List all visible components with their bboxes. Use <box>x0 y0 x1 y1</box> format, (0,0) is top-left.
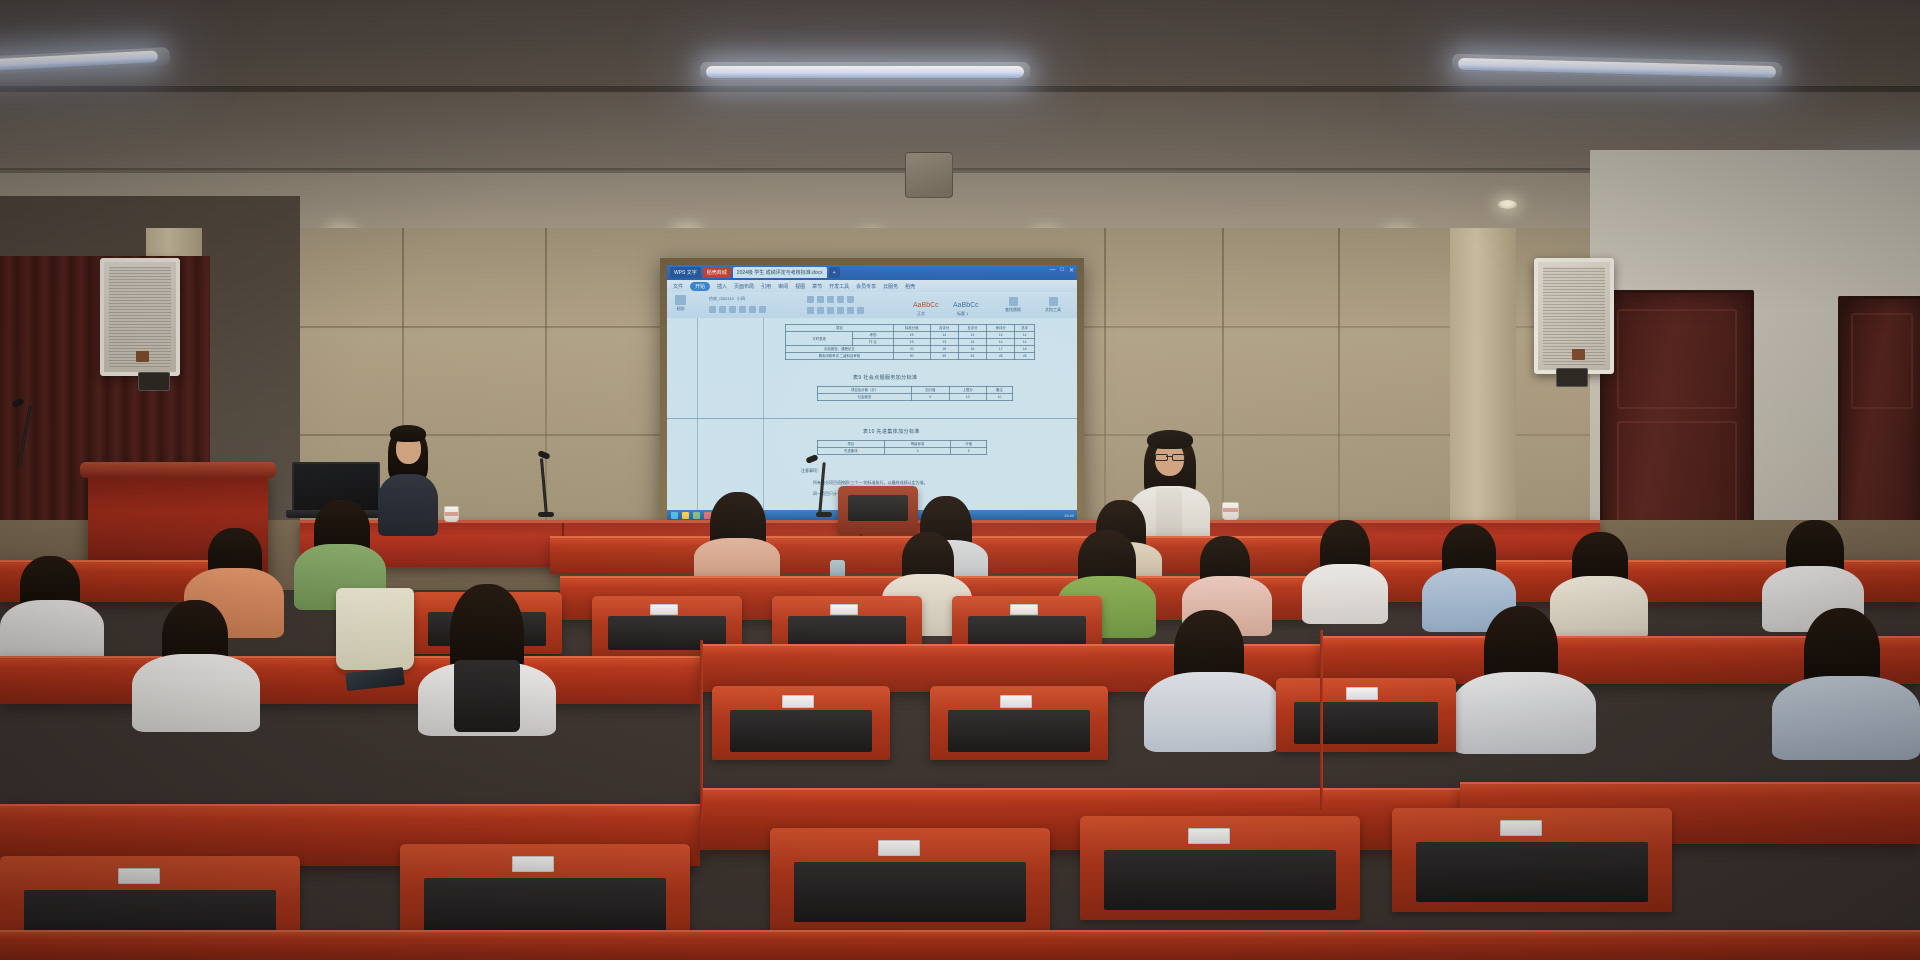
menu-item-member[interactable]: 会员专享 <box>856 283 876 290</box>
table-row: 实验报告、课程论文 20 18 18 17 18 <box>786 346 1035 353</box>
grading-table-3: 项目 等级标准 分值 先进集体 3 5 <box>817 440 987 455</box>
seat-number-label <box>830 604 858 615</box>
table-header-cell: 总评 <box>1015 325 1035 332</box>
font-name-box[interactable]: 仿宋_GB2312 <box>709 296 734 302</box>
seat-number-label <box>1188 828 1230 844</box>
wall-plate-right <box>1556 368 1588 387</box>
table-row: 社会服务 5 10 10 <box>818 394 1013 401</box>
wps-menubar: 文件 开始 插入 页面布局 引用 审阅 视图 章节 开发工具 会员专享 云服务 … <box>667 280 1077 292</box>
bench-row-5-foreground <box>0 930 1920 960</box>
menu-item-docer[interactable]: 稻壳 <box>905 283 915 290</box>
table-cell: 45 <box>987 353 1015 360</box>
wall-speaker-left <box>100 258 180 376</box>
student-r3-c1 <box>128 600 264 730</box>
style-gallery-item-2[interactable]: AaBbCc <box>953 302 979 309</box>
seat-r4-5[interactable] <box>1392 808 1672 912</box>
notes-heading: 注意事项： <box>801 468 821 474</box>
font-color-icon[interactable] <box>759 306 766 313</box>
table-cell: 期末闭卷考试 二级科目考核 <box>786 353 894 360</box>
table-cell: 考勤 <box>853 332 893 339</box>
pinafore <box>454 660 520 732</box>
table-cell: 5 <box>912 394 949 401</box>
student-r3-c5 <box>1448 606 1600 752</box>
wps-store-tab[interactable]: 稻壳商城 <box>703 267 731 278</box>
align-right-icon[interactable] <box>827 296 834 303</box>
table-header-cell: 备注 <box>986 387 1012 394</box>
table-row: 项目 等级标准 分值 <box>818 441 987 448</box>
table-cell: 10 <box>986 394 1012 401</box>
student-r3-c6 <box>1768 608 1920 758</box>
style-label-body: 正文 <box>917 311 925 317</box>
table-cell: 44 <box>958 353 986 360</box>
menu-item-home[interactable]: 开始 <box>690 282 710 291</box>
hair-top <box>1147 430 1193 449</box>
table-microphone-base-1 <box>538 512 554 517</box>
hair-top <box>390 425 426 442</box>
align-center-icon[interactable] <box>817 296 824 303</box>
wps-document-tab[interactable]: 2024级 学生 成绩评定与考核标准.docx <box>733 267 827 278</box>
table-cell: 14 <box>930 332 958 339</box>
seat-r3-1[interactable] <box>712 686 890 760</box>
table-cell: 18 <box>930 346 958 353</box>
table-header-cell: 上限分 <box>949 387 986 394</box>
taskbar-clock[interactable]: 15:42 <box>1064 513 1074 518</box>
clock-time: 15:42 <box>1064 513 1074 518</box>
table-header-cell: 加分值 <box>912 387 949 394</box>
table-cell: 平时表现 <box>786 332 853 346</box>
seat-number-label <box>512 856 554 872</box>
glasses-bridge <box>1166 456 1172 457</box>
minimize-icon[interactable]: — <box>1049 267 1055 274</box>
fluorescent-tube-2 <box>706 66 1024 78</box>
table-row: 期末闭卷考试 二级科目考核 50 45 44 45 45 <box>786 353 1035 360</box>
text-highlight-icon[interactable] <box>749 306 756 313</box>
wall-plate-left <box>138 372 170 391</box>
table-cell: 作 业 <box>853 339 893 346</box>
table-header-cell: 项目 <box>786 325 894 332</box>
wall-speaker-right <box>1534 258 1614 374</box>
number-list-icon[interactable] <box>817 307 824 314</box>
doc-tools-icon[interactable] <box>1049 297 1058 306</box>
paper-cup-left <box>444 506 459 522</box>
justify-icon[interactable] <box>837 296 844 303</box>
menu-item-cloud[interactable]: 云服务 <box>883 283 898 290</box>
table-cell: 15 <box>893 332 930 339</box>
downlight-8 <box>1498 200 1517 209</box>
bullet-list-icon[interactable] <box>807 307 814 314</box>
document-page[interactable]: 项目 标准分值 自评分 互评分 师评分 总评 平时表现 考勤 15 14 14 … <box>667 318 1077 510</box>
seat-number-label <box>118 868 160 884</box>
table-header-cell: 分值 <box>951 441 987 448</box>
menu-item-file[interactable]: 文件 <box>673 283 683 290</box>
seat-r3-3[interactable] <box>1276 678 1456 752</box>
close-icon[interactable]: ✕ <box>1069 267 1074 274</box>
window-buttons[interactable]: — □ ✕ <box>1049 267 1074 274</box>
menu-item-reference[interactable]: 引用 <box>761 283 771 290</box>
table-row: 项目 标准分值 自评分 互评分 师评分 总评 <box>786 325 1035 332</box>
projection-screen[interactable]: WPS 文字 稻壳商城 2024级 学生 成绩评定与考核标准.docx + — … <box>667 265 1077 521</box>
ceiling-vent <box>905 152 953 198</box>
ribbon-group-find: 查找替换 <box>1005 307 1021 313</box>
table-cell: 社会服务 <box>818 394 912 401</box>
table-header-cell: 标准分值 <box>893 325 930 332</box>
italic-icon[interactable] <box>719 306 726 313</box>
table-cell: 14 <box>1015 339 1035 346</box>
seat-number-label <box>1000 695 1032 708</box>
student-r2-c6 <box>1300 520 1392 624</box>
menu-item-pagelayout[interactable]: 页面布局 <box>734 283 754 290</box>
shading-icon[interactable] <box>857 307 864 314</box>
seat-r4-4[interactable] <box>1080 816 1360 920</box>
table-cell: 5 <box>951 448 987 455</box>
table-cell: 14 <box>958 332 986 339</box>
ribbon-group-paste: 粘贴 <box>677 306 685 312</box>
seat-r4-3[interactable] <box>770 828 1050 932</box>
seat-number-label <box>1010 604 1038 615</box>
table-cell: 先进集体 <box>818 448 885 455</box>
wps-titlebar: WPS 文字 稻壳商城 2024级 学生 成绩评定与考核标准.docx + — … <box>667 265 1077 280</box>
ribbon-group-doctools: 文档工具 <box>1045 307 1061 313</box>
table-cell: 14 <box>958 339 986 346</box>
font-size-box[interactable]: 小四 <box>737 296 745 302</box>
start-icon[interactable] <box>671 512 678 519</box>
seat-number-label <box>878 840 920 856</box>
table-header-cell: 互评分 <box>958 325 986 332</box>
menu-item-review[interactable]: 审阅 <box>778 283 788 290</box>
grading-table-1: 项目 标准分值 自评分 互评分 师评分 总评 平时表现 考勤 15 14 14 … <box>785 324 1035 360</box>
borders-icon[interactable] <box>847 307 854 314</box>
style-gallery-item-1[interactable]: AaBbCc <box>913 302 939 309</box>
student-r2-cL <box>0 556 110 666</box>
door-right[interactable] <box>1600 290 1754 556</box>
maximize-icon[interactable]: □ <box>1060 267 1064 274</box>
seat-number-label <box>650 604 678 615</box>
table-cell: 10 <box>949 394 986 401</box>
table-cell: 13 <box>930 339 958 346</box>
bold-icon[interactable] <box>709 306 716 313</box>
table-cell: 14 <box>1015 332 1035 339</box>
podium-top <box>80 462 276 478</box>
style-label-heading: 标题 1 <box>957 311 968 317</box>
student-r3-c2 <box>412 584 562 734</box>
indent-increase-icon[interactable] <box>837 307 844 314</box>
table-cell: 14 <box>987 339 1015 346</box>
indent-decrease-icon[interactable] <box>827 307 834 314</box>
find-replace-icon[interactable] <box>1009 297 1018 306</box>
wps-ribbon: 粘贴 仿宋_GB2312 小四 <box>667 292 1077 319</box>
seat-number-label <box>1346 687 1378 700</box>
wps-new-tab-button[interactable]: + <box>829 267 840 278</box>
table-caption-2: 表10 先进集体加分标准 <box>863 428 920 435</box>
wall-pillar-right <box>1450 228 1516 538</box>
table-cell: 18 <box>1015 346 1035 353</box>
paste-icon[interactable] <box>675 295 686 305</box>
table-cell: 50 <box>893 353 930 360</box>
lecture-hall-photo: WPS 文字 稻壳商城 2024级 学生 成绩评定与考核标准.docx + — … <box>0 0 1920 960</box>
table-cell: 17 <box>987 346 1015 353</box>
table-header-cell: 项目 <box>818 441 885 448</box>
wps-app-tab[interactable]: WPS 文字 <box>670 267 701 278</box>
glasses-right-lens <box>1172 454 1185 461</box>
table-header-cell: 项目及分值（分） <box>818 387 912 394</box>
seat-r3-2[interactable] <box>930 686 1108 760</box>
table-row: 平时表现 考勤 15 14 14 14 14 <box>786 332 1035 339</box>
grading-table-2: 项目及分值（分） 加分值 上限分 备注 社会服务 5 10 10 <box>817 386 1013 401</box>
student-r3-c4 <box>1140 610 1284 750</box>
table-caption-1: 表9 社会点题服务加分标准 <box>853 374 917 381</box>
tote-bag <box>336 588 414 670</box>
table-header-cell: 自评分 <box>930 325 958 332</box>
table-cell: 3 <box>884 448 951 455</box>
menu-item-section[interactable]: 章节 <box>812 283 822 290</box>
line-spacing-icon[interactable] <box>847 296 854 303</box>
menu-item-insert[interactable]: 插入 <box>717 283 727 290</box>
table-row: 先进集体 3 5 <box>818 448 987 455</box>
menu-item-view[interactable]: 视图 <box>795 283 805 290</box>
table-header-cell: 等级标准 <box>884 441 951 448</box>
ceiling-soffit-edge <box>0 86 1920 92</box>
align-left-icon[interactable] <box>807 296 814 303</box>
table-microphone-base-2 <box>816 512 832 517</box>
table-header-cell: 师评分 <box>987 325 1015 332</box>
table-cell: 实验报告、课程论文 <box>786 346 894 353</box>
strikethrough-icon[interactable] <box>739 306 746 313</box>
seat-number-label <box>782 695 814 708</box>
table-cell: 18 <box>958 346 986 353</box>
underline-icon[interactable] <box>729 306 736 313</box>
table-cell: 20 <box>893 346 930 353</box>
menu-item-devtools[interactable]: 开发工具 <box>829 283 849 290</box>
table-row: 项目及分值（分） 加分值 上限分 备注 <box>818 387 1013 394</box>
table-cell: 45 <box>1015 353 1035 360</box>
door-far-right[interactable] <box>1838 296 1920 552</box>
table-cell: 45 <box>930 353 958 360</box>
student-r1-c1 <box>688 492 784 582</box>
table-cell: 14 <box>987 332 1015 339</box>
table-cell: 15 <box>893 339 930 346</box>
seat-number-label <box>1500 820 1542 836</box>
paper-cup-right <box>1222 502 1239 520</box>
